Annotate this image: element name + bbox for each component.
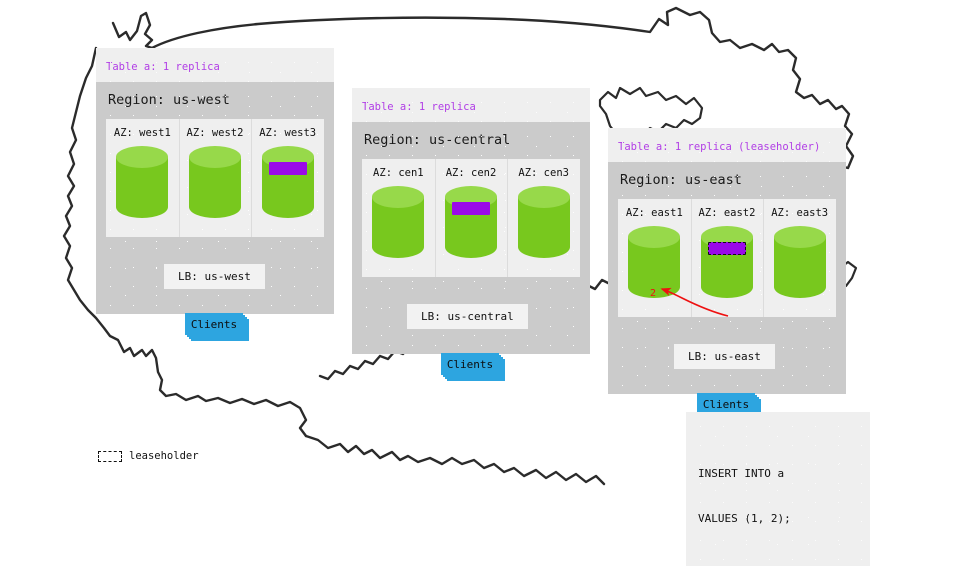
database-cylinder-icon <box>114 145 170 219</box>
database-cylinder-icon <box>699 225 755 299</box>
sql-line-1: INSERT INTO a <box>698 466 858 481</box>
az-row: AZ: cen1 AZ: cen2 <box>362 159 580 277</box>
az-label: AZ: east2 <box>691 207 764 219</box>
clients-label: Clients <box>185 313 243 335</box>
region-panel-us-west[interactable]: Table a: 1 replica Region: us-west AZ: w… <box>96 48 334 314</box>
db-node[interactable] <box>516 185 572 259</box>
az-cell-cen2[interactable]: AZ: cen2 <box>435 159 508 277</box>
az-cell-east2[interactable]: AZ: east2 <box>691 199 764 317</box>
region-replica-label: Table a: 1 replica (leaseholder) <box>618 141 820 153</box>
load-balancer-label: LB: us-central <box>421 310 514 323</box>
region-header-us-west: Table a: 1 replica <box>96 48 334 82</box>
region-body-us-east: Region: us-east AZ: east1 <box>608 162 846 394</box>
az-cell-west1[interactable]: AZ: west1 <box>106 119 179 237</box>
clients-stack-us-central[interactable]: Clients <box>441 353 499 375</box>
az-label: AZ: west3 <box>251 127 324 139</box>
az-cell-west3[interactable]: AZ: west3 <box>251 119 324 237</box>
az-cell-east1[interactable]: AZ: east1 <box>618 199 691 317</box>
load-balancer-us-east[interactable]: LB: us-east <box>674 344 775 369</box>
sql-line-2: VALUES (1, 2); <box>698 511 858 526</box>
us-map-gulf-coast-path <box>306 436 604 484</box>
az-cell-cen1[interactable]: AZ: cen1 <box>362 159 435 277</box>
region-panel-us-central[interactable]: Table a: 1 replica Region: us-central AZ… <box>352 88 590 354</box>
db-node[interactable] <box>370 185 426 259</box>
az-cell-west2[interactable]: AZ: west2 <box>179 119 252 237</box>
leaseholder-range-marker <box>708 242 746 255</box>
replica-range-marker <box>269 162 307 175</box>
az-label: AZ: east1 <box>618 207 691 219</box>
diagram-canvas: Table a: 1 replica Region: us-west AZ: w… <box>0 0 960 540</box>
replica-range-marker <box>452 202 490 215</box>
region-panel-us-east[interactable]: Table a: 1 replica (leaseholder) Region:… <box>608 128 846 394</box>
az-row: AZ: west1 AZ: west2 <box>106 119 324 237</box>
region-title: Region: us-central <box>362 122 580 159</box>
region-title: Region: us-west <box>106 82 324 119</box>
db-node[interactable] <box>699 225 755 299</box>
load-balancer-label: LB: us-east <box>688 350 761 363</box>
db-node[interactable] <box>443 185 499 259</box>
database-cylinder-icon <box>187 145 243 219</box>
region-body-us-west: Region: us-west AZ: west1 <box>96 82 334 314</box>
load-balancer-label: LB: us-west <box>178 270 251 283</box>
az-label: AZ: west1 <box>106 127 179 139</box>
clients-stack-us-west[interactable]: Clients <box>185 313 243 335</box>
clients-label: Clients <box>441 353 499 375</box>
az-label: AZ: cen3 <box>507 167 580 179</box>
database-cylinder-icon <box>260 145 316 219</box>
db-node[interactable] <box>187 145 243 219</box>
legend-label: leaseholder <box>129 450 199 462</box>
annotation-step-label: 2 <box>650 288 656 299</box>
region-title: Region: us-east <box>618 162 836 199</box>
legend-leaseholder: leaseholder <box>98 450 199 462</box>
db-node[interactable] <box>260 145 316 219</box>
region-header-us-central: Table a: 1 replica <box>352 88 590 122</box>
load-balancer-us-west[interactable]: LB: us-west <box>164 264 265 289</box>
sql-statement-box: INSERT INTO a VALUES (1, 2); <box>686 412 870 566</box>
region-replica-label: Table a: 1 replica <box>362 101 476 113</box>
az-label: AZ: cen1 <box>362 167 435 179</box>
db-node[interactable] <box>114 145 170 219</box>
dashed-rectangle-icon <box>98 451 122 462</box>
az-cell-cen3[interactable]: AZ: cen3 <box>507 159 580 277</box>
database-cylinder-icon <box>443 185 499 259</box>
texture-overlay <box>686 412 870 566</box>
az-label: AZ: west2 <box>179 127 252 139</box>
az-label: AZ: cen2 <box>435 167 508 179</box>
az-row: AZ: east1 AZ: east2 <box>618 199 836 317</box>
database-cylinder-icon <box>370 185 426 259</box>
database-cylinder-icon <box>772 225 828 299</box>
load-balancer-us-central[interactable]: LB: us-central <box>407 304 528 329</box>
database-cylinder-icon <box>516 185 572 259</box>
az-label: AZ: east3 <box>763 207 836 219</box>
region-body-us-central: Region: us-central AZ: cen1 <box>352 122 590 354</box>
region-header-us-east: Table a: 1 replica (leaseholder) <box>608 128 846 162</box>
az-cell-east3[interactable]: AZ: east3 <box>763 199 836 317</box>
db-node[interactable] <box>772 225 828 299</box>
region-replica-label: Table a: 1 replica <box>106 61 220 73</box>
